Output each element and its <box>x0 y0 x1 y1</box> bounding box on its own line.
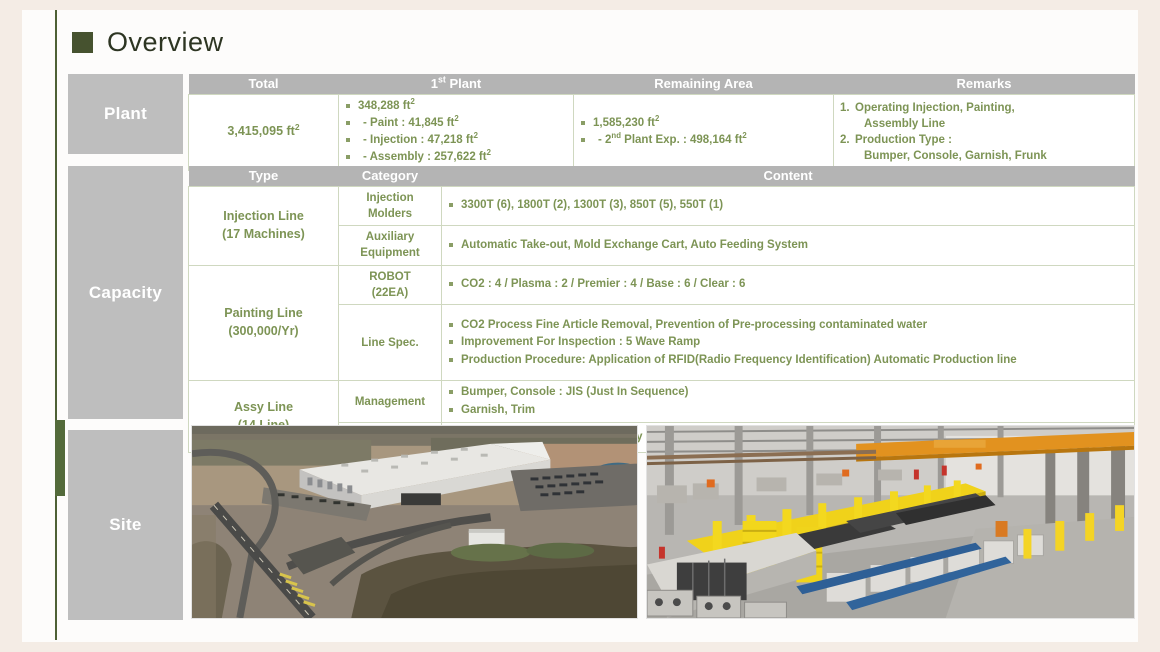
list-item: Automatic Take-out, Mold Exchange Cart, … <box>448 237 1128 253</box>
plant-table-header-row: Total 1st Plant Remaining Area Remarks <box>189 74 1135 94</box>
category-line: Equipment <box>345 245 435 261</box>
capacity-category-auxiliary-equipment: Auxiliary Equipment <box>339 226 442 266</box>
li-text: - Assembly : 257,622 ft <box>363 151 487 163</box>
plant-header-remarks: Remarks <box>834 74 1135 94</box>
remark-line: Bumper, Console, Garnish, Frunk <box>855 148 1128 164</box>
capacity-table-header-row: Type Category Content <box>189 166 1135 186</box>
li-text: - Paint : 41,845 ft <box>363 117 454 129</box>
li-text: - Injection : 47,218 ft <box>363 134 474 146</box>
total-sup: 2 <box>295 122 300 132</box>
li-sup-mid: nd <box>611 131 621 140</box>
plant-header-total: Total <box>189 74 339 94</box>
capacity-category-robot: ROBOT (22EA) <box>339 265 442 305</box>
left-accent-block <box>55 420 65 496</box>
li-sup: 2 <box>474 131 478 140</box>
section-label-plant: Plant <box>68 74 183 154</box>
type-name: Painting Line <box>195 305 332 323</box>
remark-line: Production Type : <box>855 134 952 146</box>
list-item: Bumper, Console : JIS (Just In Sequence) <box>448 384 1128 400</box>
table-row: Injection Line (17 Machines) Injection M… <box>189 186 1135 226</box>
plant-cell-first-plant: 348,288 ft2 - Paint : 41,845 ft2 - Injec… <box>339 94 574 170</box>
content-list: CO2 : 4 / Plasma : 2 / Premier : 4 / Bas… <box>448 276 1128 292</box>
table-row: Painting Line (300,000/Yr) ROBOT (22EA) … <box>189 265 1135 305</box>
category-line: Auxiliary <box>345 229 435 245</box>
li-sup: 2 <box>655 114 659 123</box>
factory-interior-illustration <box>647 426 1134 618</box>
list-item: CO2 Process Fine Article Removal, Preven… <box>448 317 1128 333</box>
content-list: CO2 Process Fine Article Removal, Preven… <box>448 317 1128 368</box>
total-value: 3,415,095 <box>227 124 283 138</box>
page-title: Overview <box>72 29 224 56</box>
remark-line: Operating Injection, Painting, <box>855 102 1015 114</box>
page-title-text: Overview <box>107 29 224 56</box>
content-list: Automatic Take-out, Mold Exchange Cart, … <box>448 237 1128 253</box>
content-list: Bumper, Console : JIS (Just In Sequence)… <box>448 384 1128 418</box>
li-sup: 2 <box>454 114 458 123</box>
slide-page: Overview Plant Capacity Site Total 1st P… <box>0 0 1160 652</box>
remaining-area-list: 1,585,230 ft2 - 2nd Plant Exp. : 498,164… <box>580 115 827 149</box>
first-plant-list: 348,288 ft2 - Paint : 41,845 ft2 - Injec… <box>345 98 567 166</box>
capacity-category-painting-line-spec: Line Spec. <box>339 305 442 381</box>
capacity-content-painting-line-spec: CO2 Process Fine Article Removal, Preven… <box>442 305 1135 381</box>
list-item: Garnish, Trim <box>448 402 1128 418</box>
title-bullet-square-icon <box>72 32 93 53</box>
type-detail: (300,000/Yr) <box>195 323 332 341</box>
capacity-type-injection-line: Injection Line (17 Machines) <box>189 186 339 265</box>
li-sup: 2 <box>410 97 414 106</box>
capacity-content-management: Bumper, Console : JIS (Just In Sequence)… <box>442 381 1135 423</box>
category-line: Line Spec. <box>345 335 435 351</box>
hdr-sup: st <box>438 75 446 85</box>
li-text: Plant Exp. : 498,164 ft <box>621 134 742 146</box>
list-item: Operating Injection, Painting, Assembly … <box>840 100 1128 133</box>
plant-header-remaining-area: Remaining Area <box>574 74 834 94</box>
type-name: Assy Line <box>195 399 332 417</box>
plant-cell-total: 3,415,095 ft2 <box>189 94 339 170</box>
capacity-category-injection-molders: Injection Molders <box>339 186 442 226</box>
section-label-site: Site <box>68 430 183 620</box>
aerial-plant-photo <box>191 425 638 619</box>
list-item: Production Type : Bumper, Console, Garni… <box>840 132 1128 165</box>
list-item: 1,585,230 ft2 <box>580 115 827 131</box>
capacity-header-content: Content <box>442 166 1135 186</box>
capacity-header-type: Type <box>189 166 339 186</box>
list-item: 348,288 ft2 <box>345 98 567 114</box>
remark-line: Assembly Line <box>855 116 1128 132</box>
li-text: 348,288 ft <box>358 100 410 112</box>
category-line: ROBOT <box>345 269 435 285</box>
table-row: Assy Line (14 Line) Management Bumper, C… <box>189 381 1135 423</box>
list-item: 3300T (6), 1800T (2), 1300T (3), 850T (5… <box>448 197 1128 213</box>
capacity-category-management: Management <box>339 381 442 423</box>
plant-table-row: 3,415,095 ft2 348,288 ft2 - Paint : 41,8… <box>189 94 1135 170</box>
category-line: (22EA) <box>345 285 435 301</box>
li-sup: 2 <box>742 131 746 140</box>
total-unit: ft <box>287 124 295 138</box>
left-accent-rule <box>55 10 57 640</box>
category-line: Injection <box>345 190 435 206</box>
capacity-content-robot: CO2 : 4 / Plasma : 2 / Premier : 4 / Bas… <box>442 265 1135 305</box>
plant-table: Total 1st Plant Remaining Area Remarks 3… <box>188 74 1135 171</box>
category-line: Management <box>345 394 435 410</box>
category-line: Molders <box>345 206 435 222</box>
list-item: CO2 : 4 / Plasma : 2 / Premier : 4 / Bas… <box>448 276 1128 292</box>
interior-injection-line-photo <box>646 425 1135 619</box>
list-item: Improvement For Inspection : 5 Wave Ramp <box>448 334 1128 350</box>
remarks-list: Operating Injection, Painting, Assembly … <box>840 100 1128 165</box>
li-pre: - 2 <box>598 134 611 146</box>
capacity-content-auxiliary-equipment: Automatic Take-out, Mold Exchange Cart, … <box>442 226 1135 266</box>
hdr-num: 1 <box>431 76 438 91</box>
capacity-header-category: Category <box>339 166 442 186</box>
section-label-capacity: Capacity <box>68 166 183 419</box>
type-detail: (17 Machines) <box>195 226 332 244</box>
li-sup: 2 <box>487 149 491 158</box>
list-item: - Assembly : 257,622 ft2 <box>345 149 567 165</box>
list-item: - Injection : 47,218 ft2 <box>345 132 567 148</box>
plant-cell-remaining-area: 1,585,230 ft2 - 2nd Plant Exp. : 498,164… <box>574 94 834 170</box>
content-list: 3300T (6), 1800T (2), 1300T (3), 850T (5… <box>448 197 1128 213</box>
type-name: Injection Line <box>195 208 332 226</box>
list-item: - 2nd Plant Exp. : 498,164 ft2 <box>580 132 827 148</box>
capacity-type-painting-line: Painting Line (300,000/Yr) <box>189 265 339 381</box>
li-text: 1,585,230 ft <box>593 117 655 129</box>
list-item: Production Procedure: Application of RFI… <box>448 352 1128 368</box>
capacity-table: Type Category Content Injection Line (17… <box>188 166 1135 453</box>
aerial-plant-illustration <box>192 426 637 618</box>
list-item: - Paint : 41,845 ft2 <box>345 115 567 131</box>
plant-header-first-plant: 1st Plant <box>339 74 574 94</box>
hdr-rest: Plant <box>446 76 481 91</box>
plant-cell-remarks: Operating Injection, Painting, Assembly … <box>834 94 1135 170</box>
capacity-content-injection-molders: 3300T (6), 1800T (2), 1300T (3), 850T (5… <box>442 186 1135 226</box>
